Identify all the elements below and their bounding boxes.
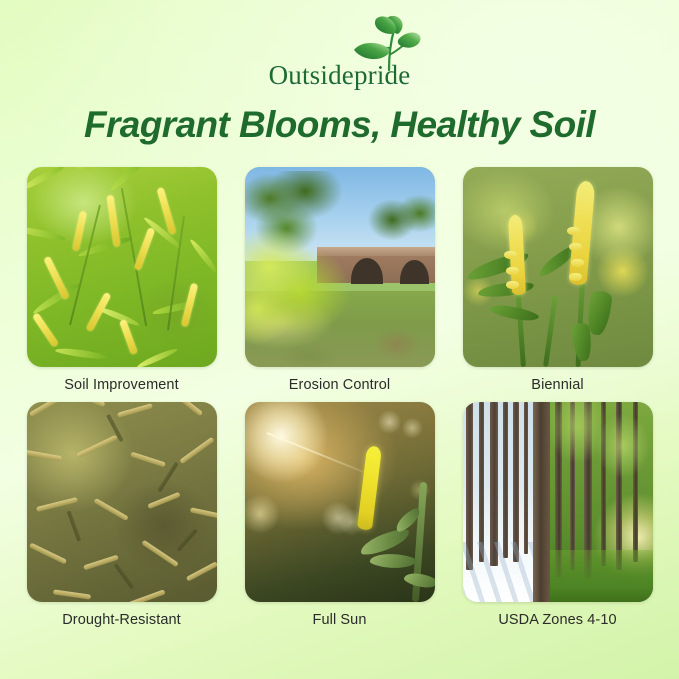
feature-caption: Erosion Control: [289, 377, 390, 394]
tree-canopy-right: [362, 191, 434, 255]
clover-stand: [245, 206, 379, 356]
page-title: Fragrant Blooms, Healthy Soil: [84, 105, 595, 146]
leaf: [369, 552, 416, 571]
leaf: [571, 322, 593, 362]
feature-grid: Soil Improvement Erosion Control: [18, 167, 661, 630]
brand-mark: [225, 14, 455, 68]
flower-spike: [357, 445, 382, 530]
brand-header: Outsidepride: [0, 14, 679, 89]
feature-cell-soil-improvement: Soil Improvement: [27, 167, 217, 394]
feature-caption: USDA Zones 4-10: [498, 612, 616, 629]
feature-image-drought-resistant: [27, 402, 217, 602]
foreground-trunk: [533, 402, 550, 602]
feature-image-erosion-control: [245, 167, 435, 367]
feature-caption: Biennial: [531, 377, 583, 394]
flower-stem: [515, 283, 526, 367]
leaf: [357, 526, 411, 557]
feature-caption: Drought-Resistant: [62, 612, 181, 629]
leaf-sprig-icon: [342, 14, 428, 72]
feature-cell-full-sun: Full Sun: [245, 402, 435, 629]
scene-bridge-landscape: [245, 167, 435, 367]
feature-caption: Soil Improvement: [64, 377, 178, 394]
scene-sun-flare: [245, 402, 435, 602]
feature-cell-erosion-control: Erosion Control: [245, 167, 435, 394]
scene-dry-clover: [27, 402, 217, 602]
feature-image-biennial: [463, 167, 653, 367]
flower-stem: [543, 295, 558, 367]
feature-cell-biennial: Biennial: [463, 167, 653, 394]
sun-ray: [267, 432, 379, 479]
feature-cell-drought-resistant: Drought-Resistant: [27, 402, 217, 629]
feature-cell-usda-zones: USDA Zones 4-10: [463, 402, 653, 629]
feature-caption: Full Sun: [313, 612, 367, 629]
dry-stems-layer: [27, 402, 217, 602]
feature-image-soil-improvement: [27, 167, 217, 367]
summer-grass: [546, 550, 652, 602]
scene-winter-summer-forest: [463, 402, 653, 602]
infographic-root: Outsidepride Fragrant Blooms, Healthy So…: [0, 0, 679, 679]
feature-image-usda-zones: [463, 402, 653, 602]
leaf: [488, 301, 539, 325]
feature-image-full-sun: [245, 402, 435, 602]
scene-clover-foliage: [27, 167, 217, 367]
scene-flower-macro: [463, 167, 653, 367]
